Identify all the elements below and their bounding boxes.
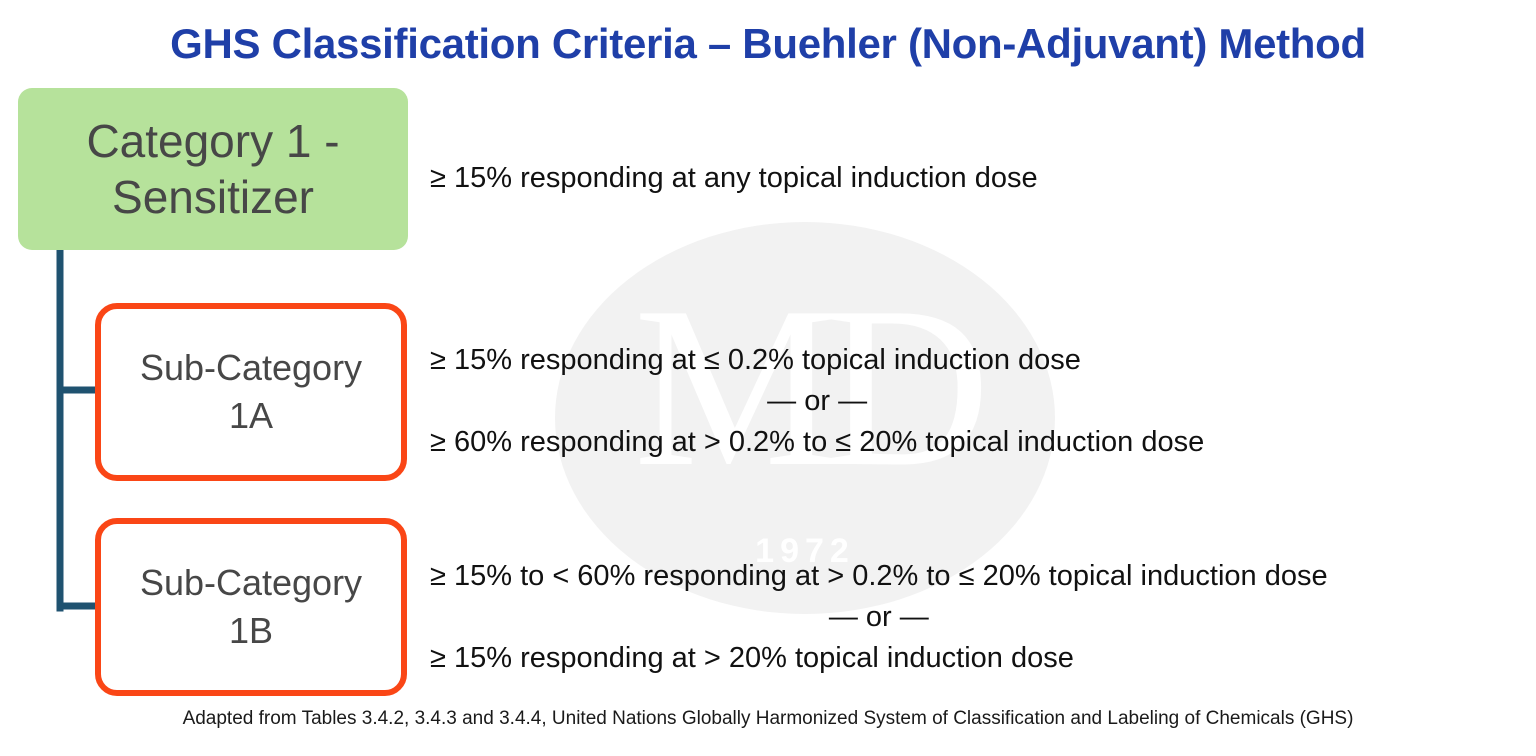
page-title: GHS Classification Criteria – Buehler (N…: [0, 18, 1536, 70]
node-category-1-label: Category 1 - Sensitizer: [36, 113, 390, 225]
diagram-canvas: MD 1972 GHS Classification Criteria – Bu…: [0, 0, 1536, 756]
node-sub-category-1b-label: Sub-Category 1B: [115, 559, 387, 655]
criteria-category-1: ≥ 15% responding at any topical inductio…: [430, 158, 1038, 199]
criteria-sub-category-1b-line-2: ≥ 15% responding at > 20% topical induct…: [430, 638, 1328, 679]
criteria-sub-category-1a-or: — or —: [430, 381, 1204, 422]
node-sub-category-1b[interactable]: Sub-Category 1B: [95, 518, 407, 696]
source-attribution: Adapted from Tables 3.4.2, 3.4.3 and 3.4…: [0, 707, 1536, 731]
criteria-sub-category-1a: ≥ 15% responding at ≤ 0.2% topical induc…: [430, 340, 1204, 463]
criteria-sub-category-1b-or: — or —: [430, 597, 1328, 638]
criteria-sub-category-1a-line-1: ≥ 15% responding at ≤ 0.2% topical induc…: [430, 340, 1204, 381]
criteria-sub-category-1a-line-2: ≥ 60% responding at > 0.2% to ≤ 20% topi…: [430, 422, 1204, 463]
criteria-category-1-line-1: ≥ 15% responding at any topical inductio…: [430, 158, 1038, 199]
criteria-sub-category-1b: ≥ 15% to < 60% responding at > 0.2% to ≤…: [430, 556, 1328, 679]
node-sub-category-1a-label: Sub-Category 1A: [115, 344, 387, 440]
node-sub-category-1a[interactable]: Sub-Category 1A: [95, 303, 407, 481]
criteria-sub-category-1b-line-1: ≥ 15% to < 60% responding at > 0.2% to ≤…: [430, 556, 1328, 597]
node-category-1-sensitizer[interactable]: Category 1 - Sensitizer: [18, 88, 408, 250]
